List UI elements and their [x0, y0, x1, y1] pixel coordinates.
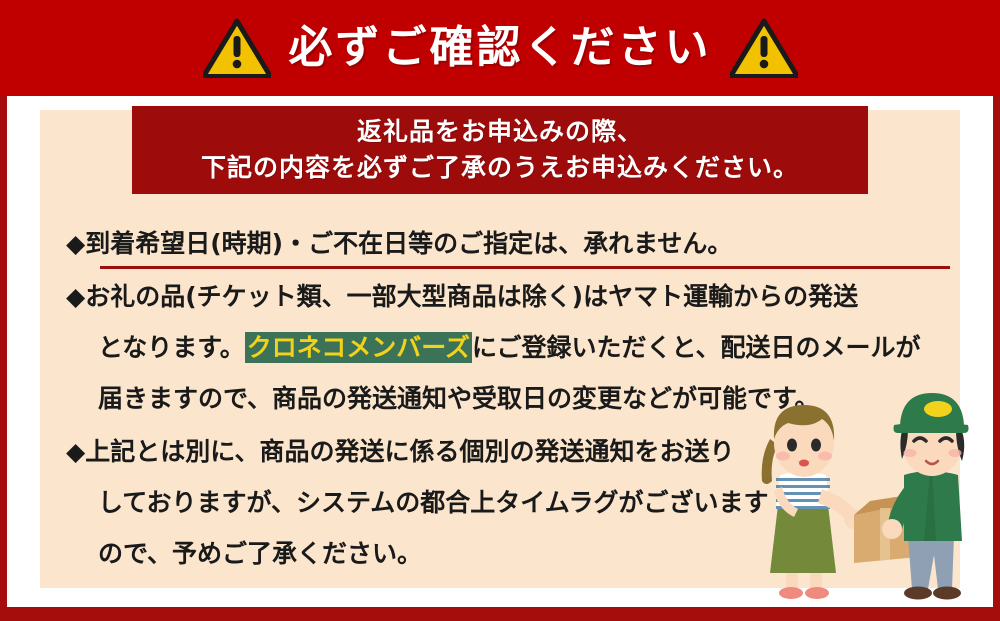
kuroneko-members-highlight: クロネコメンバーズ [245, 332, 472, 363]
woman-shoe-left [779, 587, 803, 599]
footer-bar [0, 607, 1000, 621]
header-bar: 必ずご確認ください [0, 0, 1000, 96]
notice-2-text-2a: となります。 [98, 333, 245, 362]
warning-triangle-icon [203, 18, 271, 78]
notice-2-text-2b: にご登録いただくと、配送日のメールが [472, 333, 921, 362]
notice-2-text-1: お礼の品(チケット類、一部大型商品は除く)はヤマト運輸からの発送 [85, 282, 858, 311]
woman-eye-right [811, 439, 821, 452]
warning-triangle-icon [730, 18, 798, 78]
notice-1-line-1: ◆到着希望日(時期)・ご不在日等のご指定は、承れません。 [66, 218, 966, 269]
page-title: 必ずご確認ください [289, 26, 712, 70]
sub-banner: 返礼品をお申込みの際、 下記の内容を必ずご了承のうえお申込みください。 [132, 106, 868, 194]
notice-3-text-1: 上記とは別に、商品の発送に係る個別の発送通知をお送り [85, 437, 734, 466]
left-red-edge [0, 96, 7, 621]
notice-2-line-1: ◆お礼の品(チケット類、一部大型商品は除く)はヤマト運輸からの発送 [66, 271, 966, 322]
sub-banner-line-2: 下記の内容を必ずご了承のうえお申込みください。 [201, 150, 799, 186]
bullet-marker: ◆ [66, 229, 85, 258]
driver-shoe-left [904, 587, 932, 600]
delivery-handover-illustration [742, 377, 986, 607]
notice-banner-page: 必ずご確認ください 返礼品をお申込みの際、 下記の内容を必ずご了承のうえお申込み… [0, 0, 1000, 621]
cap-logo-icon [924, 401, 952, 417]
driver-pants [908, 537, 954, 589]
notice-item-1: ◆到着希望日(時期)・ご不在日等のご指定は、承れません。 [66, 218, 966, 269]
bullet-marker: ◆ [66, 282, 85, 311]
driver-shoe-right [933, 587, 961, 600]
cap-brim [894, 422, 969, 433]
woman-skirt [770, 505, 836, 573]
right-red-edge [993, 96, 1000, 621]
sub-banner-line-1: 返礼品をお申込みの際、 [357, 114, 643, 150]
woman-shoe-right [805, 587, 829, 599]
bullet-marker: ◆ [66, 437, 85, 466]
notice-1-text: 到着希望日(時期)・ご不在日等のご指定は、承れません。 [85, 229, 732, 258]
woman-eye-left [787, 439, 797, 452]
notice-2-line-2: となります。クロネコメンバーズにご登録いただくと、配送日のメールが [66, 322, 966, 373]
driver-hand [882, 519, 902, 539]
